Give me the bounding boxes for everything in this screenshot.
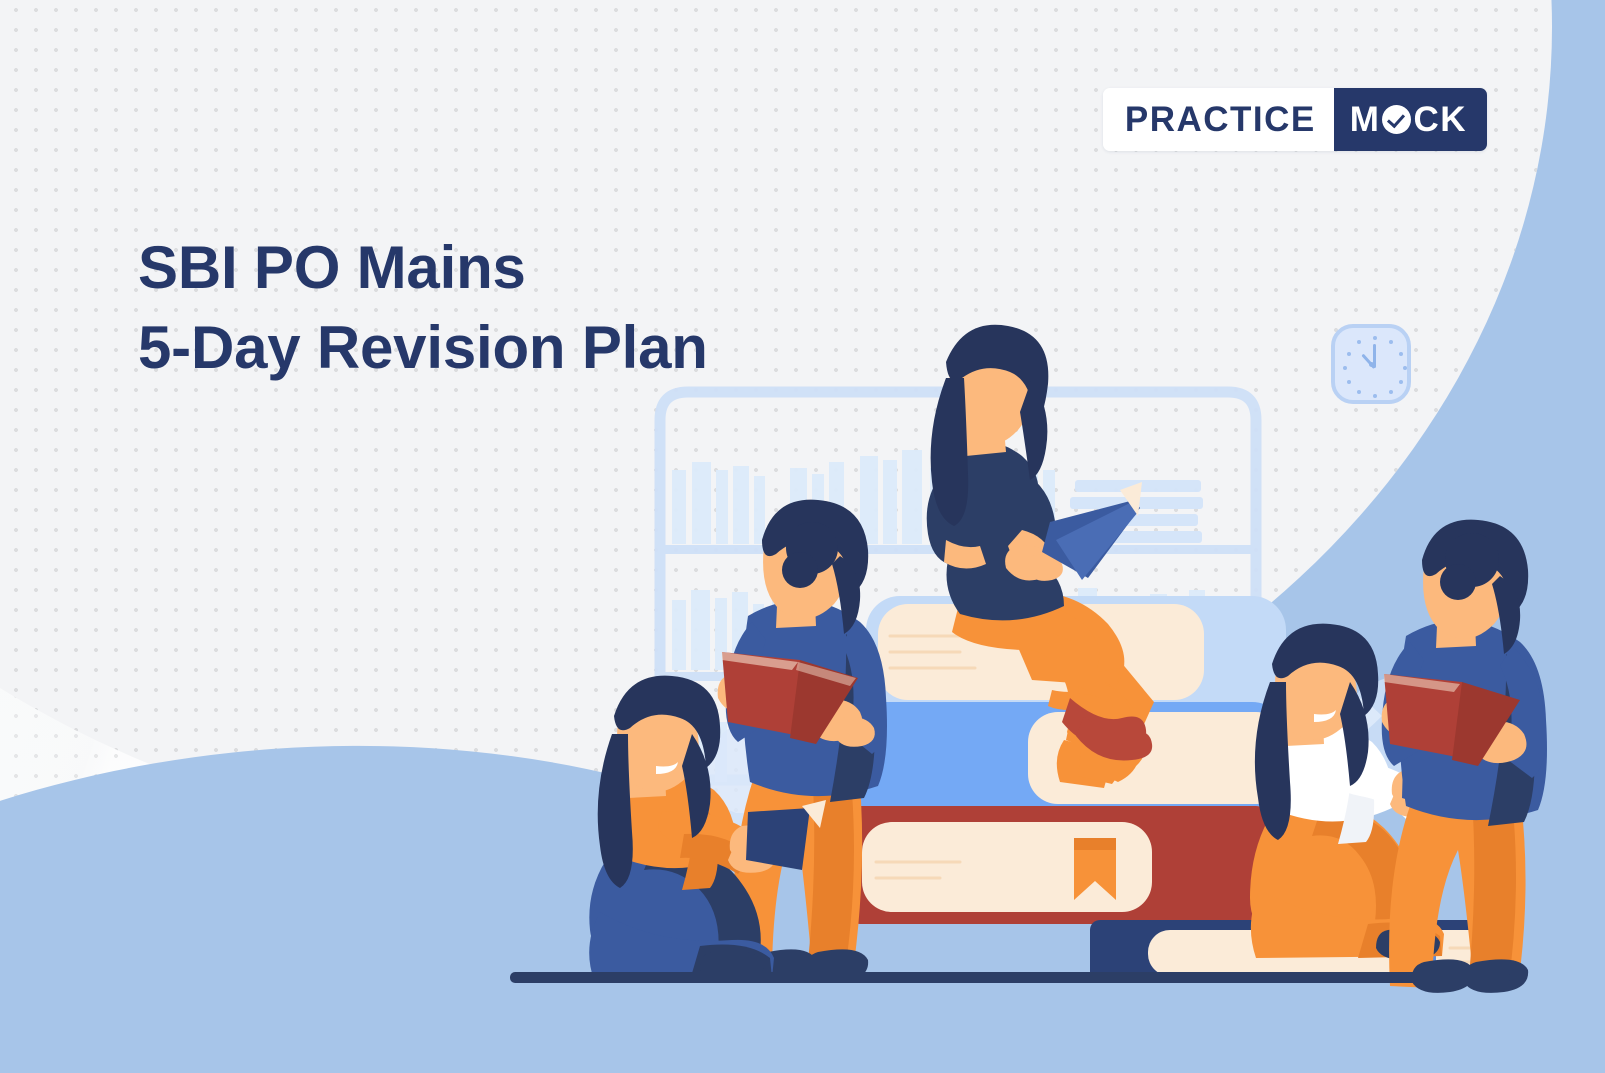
illustration-students-reading [0,0,1605,1073]
logo-letters-ck: CK [1413,102,1467,137]
logo-word-practice: PRACTICE [1103,88,1334,151]
book-third-red [848,806,1268,924]
promotional-banner: SBI PO Mains 5-Day Revision Plan PRACTIC… [0,0,1605,1073]
headline-line-2: 5-Day Revision Plan [138,308,708,388]
brand-logo[interactable]: PRACTICE M CK [1103,88,1487,151]
check-circle-icon [1382,105,1411,134]
logo-word-mock: M CK [1334,88,1487,151]
headline-line-1: SBI PO Mains [138,228,708,308]
logo-letter-m: M [1350,102,1381,137]
ground-line [510,972,1510,983]
page-title: SBI PO Mains 5-Day Revision Plan [138,228,708,388]
